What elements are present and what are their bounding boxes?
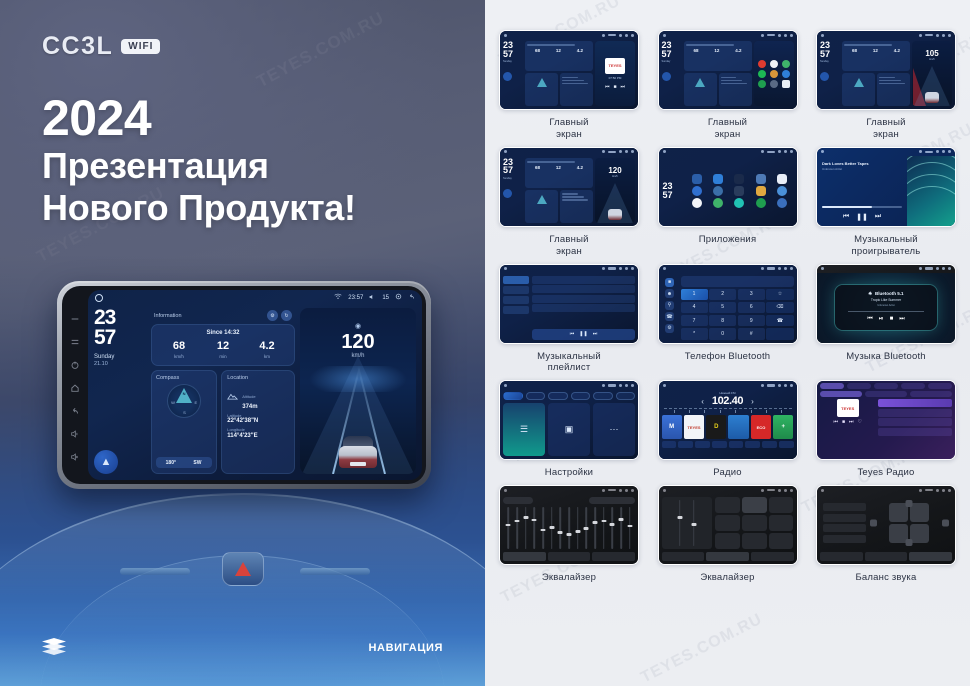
call-button[interactable]: ☎	[766, 315, 793, 327]
app-icon-calculator	[756, 174, 766, 184]
track-info: Dark Loves Better Tapes Unknown Artist ⏮…	[817, 156, 907, 226]
speed-readout: ◉ 120 km/h	[300, 322, 416, 359]
app-icon-maps	[782, 60, 790, 68]
settings-card-carplay[interactable]: ▣	[548, 403, 590, 456]
speaker-front-right[interactable]	[910, 503, 929, 522]
play-pause-icon[interactable]: ⏯	[879, 316, 884, 323]
layers-icon[interactable]	[42, 638, 66, 658]
tab-eq[interactable]	[662, 552, 705, 561]
playlist-sidebar[interactable]	[503, 276, 529, 340]
stop-icon: ■	[613, 84, 616, 90]
speaker-grid	[889, 503, 929, 543]
tab-balance[interactable]	[751, 552, 794, 561]
speed-icon: ◉	[300, 322, 416, 330]
mini-status-bar	[817, 148, 955, 156]
gallery-row: 23 57 Sunday 68	[499, 30, 956, 141]
speed-unit: km/h	[300, 353, 416, 359]
search-icon[interactable]: ⚲	[665, 301, 674, 310]
list-item[interactable]	[532, 295, 635, 303]
wifi-icon	[602, 150, 605, 153]
balance-right-button[interactable]	[942, 520, 949, 527]
tab-balance[interactable]	[592, 552, 635, 561]
home-icon	[504, 267, 507, 270]
tab-eq[interactable]	[820, 552, 863, 561]
dial-key-7[interactable]: 7	[681, 315, 708, 327]
hero-year: 2024	[42, 92, 356, 145]
car-graphic	[608, 209, 622, 220]
teyes-radio-content: TEYES ⏮ ■ ⏭ ♡	[820, 399, 952, 456]
balance-body	[817, 494, 955, 564]
mini-screen: 23 57 Sunday 68	[817, 31, 955, 109]
balance-options[interactable]	[823, 500, 866, 546]
sidebar-item-artists[interactable]	[503, 296, 529, 304]
pause-icon[interactable]: ❚❚	[579, 331, 587, 337]
dial-key-2[interactable]: 2	[709, 289, 736, 301]
prev-icon[interactable]: ⏮	[570, 331, 575, 337]
mini-location-card	[877, 73, 910, 106]
preset-3[interactable]: D	[706, 415, 726, 439]
stat-value: 12	[714, 48, 719, 53]
visualizer	[907, 156, 955, 226]
settings-tabs[interactable]	[503, 392, 635, 400]
thumbnail-radio[interactable]: Нижний FM ‹ 102.40 ›	[658, 380, 798, 460]
bt-controls[interactable]: ⏮ ⏯ ■ ⏭	[867, 316, 904, 323]
radio-dial[interactable]	[664, 408, 792, 414]
wifi-icon	[761, 150, 764, 153]
gallery-item[interactable]: 23 57 Sunday 68	[499, 147, 639, 258]
app-icon-all-apps	[782, 80, 790, 88]
thumbnail-settings[interactable]: ☰ ▣ ⋯	[499, 380, 639, 460]
settings-card-wifi[interactable]: ☰	[503, 403, 545, 456]
eq-button[interactable]	[712, 441, 727, 448]
car-body	[339, 446, 377, 468]
mini-status-bar	[500, 381, 638, 389]
dial-key-1[interactable]: 1	[681, 289, 708, 301]
wifi-icon	[919, 489, 922, 492]
mini-body: 23 57 Sunday 68	[500, 156, 638, 226]
refresh-chip-icon[interactable]: ↻	[281, 310, 292, 321]
home-icon	[663, 34, 666, 37]
player-controls[interactable]: ⏮ ❚❚ ⏭	[822, 213, 902, 221]
gallery-item[interactable]: Баланс звука	[816, 485, 956, 584]
back-arrow-icon[interactable]	[408, 293, 415, 302]
dial-key-star[interactable]: *	[681, 328, 708, 340]
mini-location-card	[560, 73, 593, 106]
prev-icon[interactable]: ⏮	[843, 213, 849, 221]
preset-flat[interactable]	[742, 533, 767, 549]
thumbnail-equalizer[interactable]	[499, 485, 639, 565]
gear-icon[interactable]	[395, 293, 402, 302]
list-button[interactable]	[695, 441, 710, 448]
thumbnail-home-nav-red[interactable]: 23 57 Sunday 68	[816, 30, 956, 110]
divider	[844, 44, 892, 46]
mini-player-bar[interactable]: ⏮ ❚❚ ⏭	[532, 329, 635, 340]
loc-button[interactable]	[729, 441, 744, 448]
volume-icon	[778, 489, 781, 492]
teyes-radio-tabs[interactable]	[820, 383, 952, 389]
mini-screen	[500, 486, 638, 564]
dial-pad[interactable]: 1 2 3 ☆ 4 5 6 ⌫ 7 8	[681, 289, 794, 340]
volume-icon[interactable]	[369, 294, 376, 302]
compass-cone-icon	[537, 78, 547, 87]
clock-icon	[608, 267, 616, 270]
back-arrow-icon	[790, 34, 793, 37]
equalizer-sliders[interactable]	[503, 504, 635, 552]
app-icon-files	[777, 174, 787, 184]
dial-key-hash[interactable]: #	[738, 328, 765, 340]
mini-info-card: 68 12 4.2	[525, 158, 593, 188]
equalizer2-body	[659, 494, 797, 564]
equalizer-header[interactable]	[503, 497, 635, 504]
eq2-presets[interactable]	[715, 497, 794, 549]
preset-classic[interactable]	[715, 515, 740, 531]
reset-button[interactable]	[589, 497, 635, 504]
preset-rock[interactable]	[742, 497, 767, 513]
car-graphic	[339, 434, 377, 468]
compass-readout: 180° SW	[156, 457, 212, 468]
stop-icon[interactable]: ■	[890, 316, 894, 323]
number-display[interactable]	[681, 276, 794, 287]
bt-music-body: ⎈ Bluetooth 5.1 Tropic Like Summer Unkno…	[817, 273, 955, 343]
eq-band[interactable]	[691, 500, 697, 546]
tab-countries[interactable]	[901, 383, 925, 389]
clock-icon	[767, 267, 775, 270]
sidebar-item-folders[interactable]	[503, 306, 529, 314]
next-icon[interactable]: ⏭	[899, 316, 904, 323]
keypad-icon[interactable]: ■	[665, 278, 674, 287]
contacts-icon[interactable]: ☻	[665, 289, 674, 298]
next-icon[interactable]: ⏭	[593, 331, 598, 337]
eq2-sliders[interactable]	[662, 497, 712, 549]
list-item[interactable]	[532, 304, 635, 312]
gear-icon	[784, 384, 787, 387]
balance-tabs[interactable]	[820, 552, 952, 561]
list-item[interactable]	[878, 428, 952, 436]
tab-apps[interactable]	[593, 392, 613, 400]
eq-band[interactable]	[626, 507, 633, 549]
bt-music-card: ⎈ Bluetooth 5.1 Tropic Like Summer Unkno…	[835, 285, 937, 330]
app-icon-equalizer	[734, 186, 744, 196]
equalizer2-content	[662, 497, 794, 549]
app-icon-spotify	[692, 198, 702, 208]
thumbnail-dialer[interactable]: ■ ☻ ⚲ ☎ ⚙ 1 2	[658, 264, 798, 344]
dial-key-6[interactable]: 6	[738, 302, 765, 314]
compass-cone-icon	[854, 78, 864, 87]
radio-presets[interactable]: M TEYES D ECO +	[662, 415, 794, 439]
wifi-icon	[919, 34, 922, 37]
tab-genres[interactable]	[874, 383, 898, 389]
preset-pop[interactable]	[715, 497, 740, 513]
mini-clock-minutes: 57	[820, 50, 840, 59]
home-icon[interactable]	[95, 294, 103, 302]
preset-custom[interactable]	[715, 533, 740, 549]
band-button[interactable]	[662, 441, 677, 448]
sidebar-item-albums[interactable]	[503, 286, 529, 294]
preset-1[interactable]: M	[662, 415, 682, 439]
eq-band[interactable]	[522, 507, 529, 549]
tab-sound[interactable]	[526, 392, 546, 400]
app-icon-more	[777, 198, 787, 208]
balance-content	[820, 497, 952, 549]
thumbnail-bt-music[interactable]: ⎈ Bluetooth 5.1 Tropic Like Summer Unkno…	[816, 264, 956, 344]
clock-icon	[767, 151, 775, 154]
mini-body: 23 57 Sunday 68	[659, 39, 797, 109]
thumbnail-app-drawer[interactable]: 23 57	[658, 147, 798, 227]
favorites-icon[interactable]: ☆	[766, 289, 793, 301]
bt-version-label: Bluetooth 5.1	[875, 291, 904, 296]
dialer-body: ■ ☻ ⚲ ☎ ⚙ 1 2	[659, 273, 797, 343]
prev-icon[interactable]: ⏮	[833, 419, 838, 425]
eq-band[interactable]	[583, 507, 590, 549]
preset-bass[interactable]	[769, 515, 794, 531]
power-key-icon[interactable]	[70, 357, 80, 367]
preset-jazz[interactable]	[769, 497, 794, 513]
head-unit-screen[interactable]: 23:57 15	[88, 290, 422, 480]
mini-clock-day: Sunday	[820, 60, 840, 63]
speaker-rear-right[interactable]	[910, 524, 929, 543]
app-icon-radio	[692, 174, 702, 184]
next-icon[interactable]: ⏭	[875, 213, 881, 221]
option-rear[interactable]	[823, 514, 866, 522]
tab-search[interactable]	[928, 383, 952, 389]
option-right[interactable]	[823, 535, 866, 543]
gallery-item[interactable]: ■ ☻ ⚲ ☎ ⚙ 1 2	[658, 264, 798, 375]
list-item[interactable]	[878, 409, 952, 417]
hazard-button[interactable]	[222, 552, 264, 586]
option-left[interactable]	[823, 524, 866, 532]
pause-icon[interactable]: ❚❚	[856, 213, 868, 221]
wifi-icon	[919, 267, 922, 270]
tab-eq[interactable]	[503, 552, 546, 561]
information-widget[interactable]: Information ⚙ ↻ Since 14:32 68	[151, 308, 295, 366]
gallery-item[interactable]: ☰ ▣ ⋯	[499, 380, 639, 479]
gallery-item[interactable]: Dark Loves Better Tapes Unknown Artist ⏮…	[816, 147, 956, 258]
preset-2[interactable]: TEYES	[684, 415, 704, 439]
mini-location-card	[719, 73, 752, 106]
next-station-icon[interactable]: ›	[751, 397, 754, 406]
hero-footer: НАВИГАЦИЯ	[0, 638, 485, 658]
prev-icon[interactable]: ⏮	[867, 316, 872, 323]
next-icon[interactable]: ⏭	[849, 419, 854, 425]
app-tile	[752, 174, 770, 184]
tab-all[interactable]	[820, 383, 844, 389]
thumbnail-balance[interactable]	[816, 485, 956, 565]
hardware-keys[interactable]	[62, 290, 88, 480]
head-unit-bezel: 23:57 15	[62, 286, 426, 484]
thumbnail-home-apps[interactable]: 23 57 Sunday 68	[658, 30, 798, 110]
eq-band[interactable]	[548, 507, 555, 549]
gallery-item[interactable]: Эквалайзер	[499, 485, 639, 584]
compass-widget[interactable]: Compass N W E S	[151, 370, 217, 474]
gallery-item[interactable]: ⎈ Bluetooth 5.1 Tropic Like Summer Unkno…	[816, 264, 956, 375]
balance-down-button[interactable]	[906, 539, 913, 546]
gallery-item[interactable]: Эквалайзер	[658, 485, 798, 584]
gear-icon	[784, 267, 787, 270]
balance-left-button[interactable]	[870, 520, 877, 527]
list-item[interactable]	[532, 285, 635, 293]
mini-screen: TEYES ⏮ ■ ⏭ ♡	[817, 381, 955, 459]
thumbnail-music-player[interactable]: Dark Loves Better Tapes Unknown Artist ⏮…	[816, 147, 956, 227]
list-item[interactable]	[878, 418, 952, 426]
subtab-recent[interactable]	[865, 391, 907, 397]
progress-bar[interactable]	[848, 311, 924, 312]
tab-sound[interactable]	[865, 552, 908, 561]
thumbnail-caption: Главныйэкран	[549, 234, 588, 258]
volume-up-key-icon[interactable]	[70, 449, 80, 459]
dial-key-blank[interactable]	[766, 328, 793, 340]
location-widget[interactable]: Location Altitude 374m	[221, 370, 295, 474]
equalizer-tabs[interactable]	[503, 552, 635, 561]
settings-card-more[interactable]: ⋯	[593, 403, 635, 456]
sidebar-item-tracks[interactable]	[503, 276, 529, 284]
gallery-item[interactable]: 23 57 Sunday 68	[658, 30, 798, 141]
stop-icon[interactable]: ■	[842, 419, 845, 425]
home-icon	[504, 150, 507, 153]
radio-toolbar[interactable]	[662, 441, 794, 448]
teyes-controls[interactable]: ⏮ ■ ⏭ ♡	[833, 419, 862, 425]
mini-compass-card	[525, 73, 558, 106]
st-button[interactable]	[745, 441, 760, 448]
list-item[interactable]	[878, 399, 952, 407]
gallery-item[interactable]: 23 57	[658, 147, 798, 258]
mini-apps-pane	[754, 41, 794, 106]
information-header: Information ⚙ ↻	[151, 308, 295, 324]
dialer-sidebar[interactable]: ■ ☻ ⚲ ☎ ⚙	[662, 276, 678, 340]
settings-chip-icon[interactable]: ⚙	[267, 310, 278, 321]
eq-band[interactable]	[609, 507, 616, 549]
list-item[interactable]	[532, 276, 635, 284]
tab-display[interactable]	[548, 392, 568, 400]
af-button[interactable]	[762, 441, 777, 448]
thumbnail-teyes-radio[interactable]: TEYES ⏮ ■ ⏭ ♡	[816, 380, 956, 460]
thumbnail-caption: Главныйэкран	[708, 117, 747, 141]
dial-key-9[interactable]: 9	[738, 315, 765, 327]
tab-system[interactable]	[571, 392, 591, 400]
tab-balance[interactable]	[909, 552, 952, 561]
gallery-item[interactable]: TEYES ⏮ ■ ⏭ ♡	[816, 380, 956, 479]
widget-column: Information ⚙ ↻ Since 14:32 68	[151, 308, 295, 474]
gallery-item[interactable]: 23 57 Sunday 68	[816, 30, 956, 141]
dial-key-0[interactable]: 0	[709, 328, 736, 340]
dial-key-5[interactable]: 5	[709, 302, 736, 314]
clock-day: Sunday	[94, 354, 146, 360]
home-key-icon[interactable]	[70, 380, 80, 390]
call-history-icon[interactable]: ☎	[665, 312, 674, 321]
search-button[interactable]	[678, 441, 693, 448]
volume-icon	[778, 34, 781, 37]
dial-key-8[interactable]: 8	[709, 315, 736, 327]
preset-6[interactable]: +	[773, 415, 793, 439]
eq-band[interactable]	[531, 507, 538, 549]
preset-selector[interactable]	[503, 497, 533, 504]
eq-band[interactable]	[505, 507, 512, 549]
option-front[interactable]	[823, 503, 866, 511]
thumbnail-equalizer-2[interactable]	[658, 485, 798, 565]
tab-favorites[interactable]	[847, 383, 871, 389]
gallery-item[interactable]: Нижний FM ‹ 102.40 ›	[658, 380, 798, 479]
tab-about[interactable]	[616, 392, 636, 400]
preset-vocal[interactable]	[742, 515, 767, 531]
clock-icon	[767, 384, 775, 387]
user-avatar-icon[interactable]: ▲	[94, 450, 118, 474]
menu-button[interactable]	[779, 441, 794, 448]
gear-icon	[942, 267, 945, 270]
eq-band[interactable]	[566, 507, 573, 549]
watermark: TEYES.COM.RU	[254, 8, 388, 92]
stat-value: 4.2	[735, 48, 741, 53]
stat-value: 4.2	[577, 165, 583, 170]
mute-key-icon[interactable]	[70, 311, 80, 321]
settings-icon[interactable]: ⚙	[665, 324, 674, 333]
information-title: Information	[154, 313, 264, 319]
menu-key-icon[interactable]	[70, 334, 80, 344]
eq-band[interactable]	[618, 507, 625, 549]
progress-bar[interactable]	[822, 206, 902, 208]
eq-band[interactable]	[557, 507, 564, 549]
backspace-icon[interactable]: ⌫	[766, 302, 793, 314]
tab-sound[interactable]	[706, 552, 749, 561]
volume-icon	[936, 34, 939, 37]
bt-track-artist: Unknown Artist	[877, 304, 894, 307]
back-key-icon[interactable]	[70, 403, 80, 413]
preset-5[interactable]: ECO	[751, 415, 771, 439]
preset-dance[interactable]	[769, 533, 794, 549]
gallery-item[interactable]: ⏮ ❚❚ ⏭ Музыкальныйплейлист	[499, 264, 639, 375]
thumbnail-home-media[interactable]: 23 57 Sunday 68	[499, 30, 639, 110]
stat-unit: km	[245, 354, 289, 359]
equalizer-tabs[interactable]	[662, 552, 794, 561]
gallery-item[interactable]: 23 57 Sunday 68	[499, 30, 639, 141]
eq-band[interactable]	[514, 507, 521, 549]
eq-band[interactable]	[677, 500, 683, 546]
mini-stats: 68 12 4.2	[686, 48, 750, 53]
mini-status-bar	[659, 486, 797, 494]
location-title: Location	[227, 375, 289, 381]
dial-key-3[interactable]: 3	[738, 289, 765, 301]
balance-up-button[interactable]	[906, 500, 913, 507]
eq-band[interactable]	[600, 507, 607, 549]
subtab-popular[interactable]	[910, 391, 952, 397]
eq-band[interactable]	[592, 507, 599, 549]
app-icon-settings	[770, 80, 778, 88]
thumbnail-home-nav[interactable]: 23 57 Sunday 68	[499, 147, 639, 227]
volume-down-key-icon[interactable]	[70, 426, 80, 436]
footer-nav-label: НАВИГАЦИЯ	[369, 642, 443, 654]
eq-band[interactable]	[540, 507, 547, 549]
preset-4[interactable]	[728, 415, 748, 439]
subtab-now[interactable]	[820, 391, 862, 397]
mini-widgets: 68 12 4.2	[842, 41, 910, 106]
balance-pad[interactable]	[870, 500, 949, 546]
prev-station-icon[interactable]: ‹	[701, 397, 704, 406]
volume-icon	[619, 150, 622, 153]
app-icon-maps	[713, 198, 723, 208]
teyes-radio-subtabs[interactable]	[820, 391, 952, 397]
favorite-icon[interactable]: ♡	[858, 419, 862, 425]
tab-sound[interactable]	[548, 552, 591, 561]
clock-widget[interactable]: 23 57 Sunday 21.10 ▲	[94, 308, 146, 474]
gear-icon	[942, 34, 945, 37]
compass-points: W E S	[168, 385, 200, 417]
dial-key-4[interactable]: 4	[681, 302, 708, 314]
navigation-widget[interactable]: ◉ 120 km/h	[300, 308, 416, 474]
eq-band[interactable]	[574, 507, 581, 549]
app-icon-file-manager	[756, 186, 766, 196]
compass-direction: SW	[186, 460, 210, 466]
thumbnail-playlist[interactable]: ⏮ ❚❚ ⏭	[499, 264, 639, 344]
app-tile	[752, 198, 770, 208]
tab-wifi[interactable]	[503, 392, 523, 400]
